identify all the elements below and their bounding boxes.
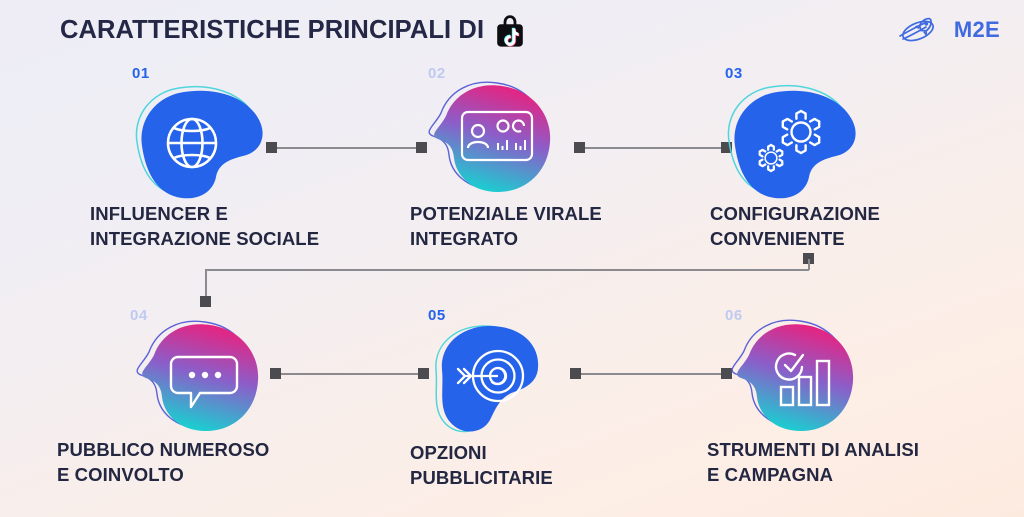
blob-shape-blue — [422, 318, 572, 443]
brand-logo: M2E — [894, 12, 1000, 48]
blob-shape-blue — [130, 80, 280, 205]
item-number: 01 — [132, 66, 150, 81]
item-blob — [723, 315, 873, 440]
infographic-canvas: CARATTERISTICHE PRINCIPALI DI — [0, 0, 1024, 517]
blob-shape-gradient — [420, 76, 570, 201]
connector-line-05-06 — [581, 373, 721, 375]
page-title: CARATTERISTICHE PRINCIPALI DI — [60, 18, 484, 44]
blob-shape-blue — [723, 80, 873, 205]
header: CARATTERISTICHE PRINCIPALI DI — [0, 0, 1024, 62]
item-label: OPZIONI PUBBLICITARIE — [410, 441, 700, 490]
connector-line-04-05 — [281, 373, 418, 375]
item-label: CONFIGURAZIONE CONVENIENTE — [710, 202, 1010, 251]
brand-name: M2E — [954, 17, 1000, 43]
title-group: CARATTERISTICHE PRINCIPALI DI — [60, 14, 526, 48]
item-label: STRUMENTI DI ANALISI E CAMPAGNA — [707, 438, 1017, 487]
item-blob — [130, 80, 280, 205]
item-label: INFLUENCER E INTEGRAZIONE SOCIALE — [90, 202, 380, 251]
connector-line-03-04-across — [205, 269, 809, 271]
connector-node — [574, 142, 585, 153]
item-blob — [723, 80, 873, 205]
m2e-rocket-planet-logo-icon — [894, 12, 950, 48]
item-label: PUBBLICO NUMEROSO E COINVOLTO — [57, 438, 377, 487]
connector-line-02-03 — [585, 147, 721, 149]
item-label: POTENZIALE VIRALE INTEGRATO — [410, 202, 700, 251]
connector-line-01-02 — [277, 147, 416, 149]
tiktok-shop-bag-icon — [494, 14, 526, 48]
item-number: 03 — [725, 66, 743, 81]
connector-node — [200, 296, 211, 307]
item-blob — [422, 318, 572, 443]
item-blob — [128, 315, 278, 440]
blob-shape-gradient — [723, 315, 873, 440]
item-blob — [420, 76, 570, 201]
blob-shape-gradient — [128, 315, 278, 440]
